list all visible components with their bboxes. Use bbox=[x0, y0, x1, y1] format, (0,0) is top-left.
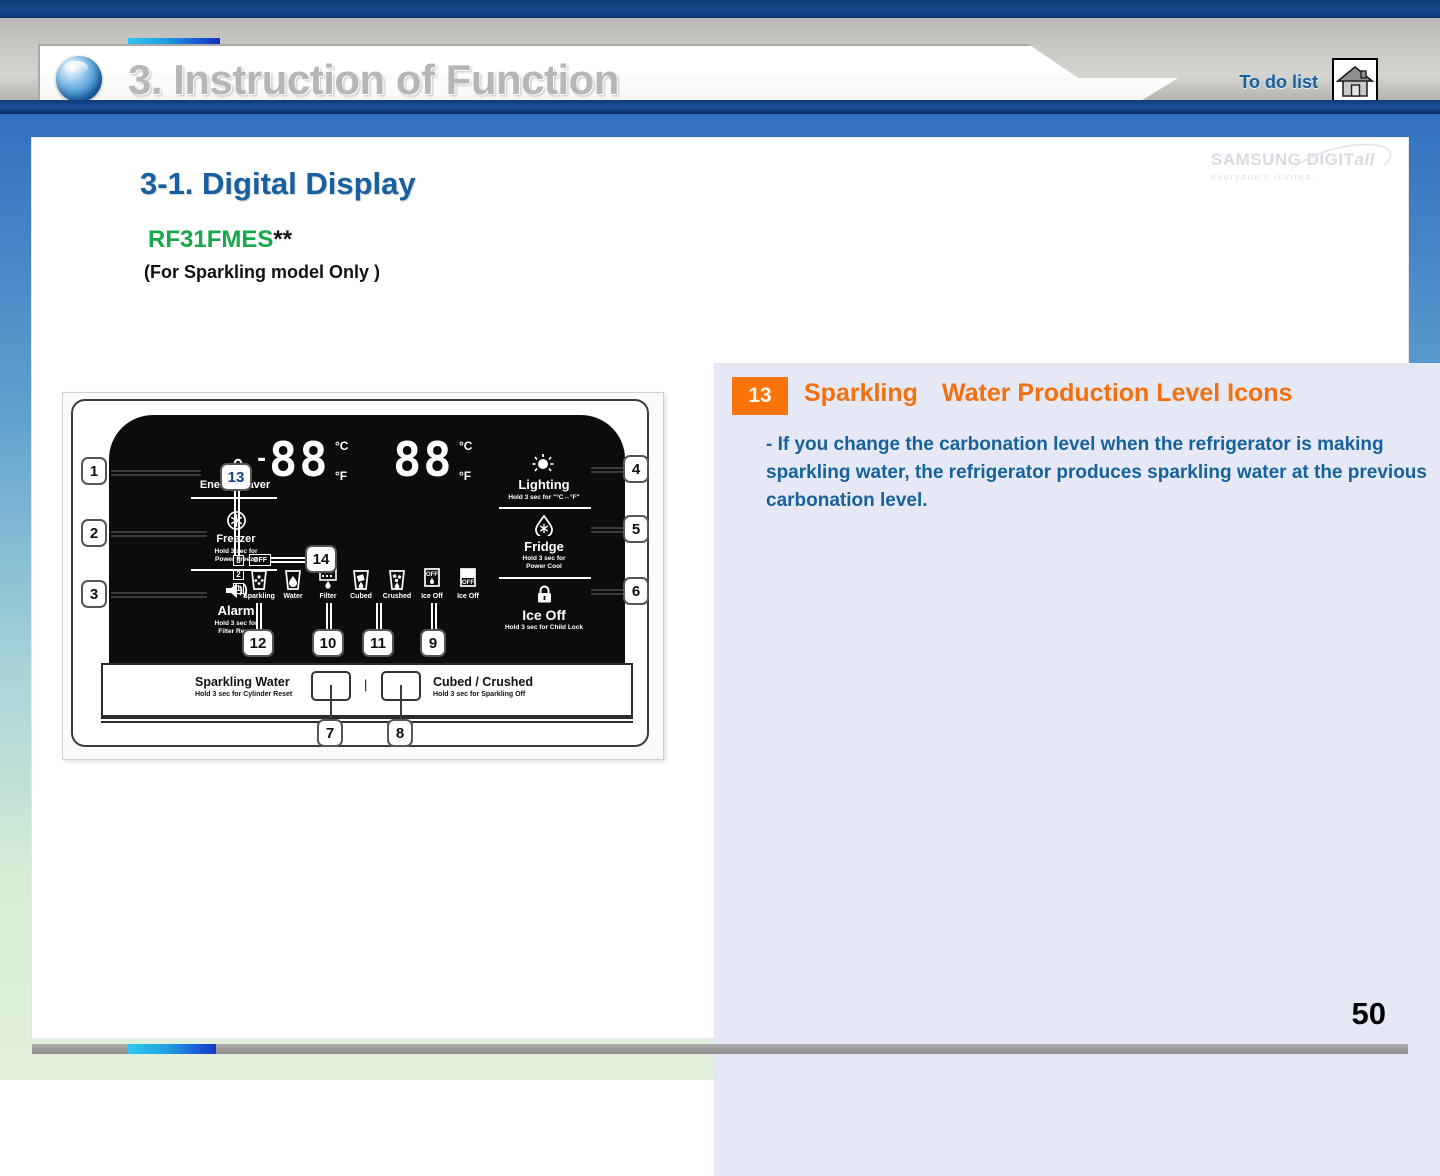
minus-sign: - bbox=[255, 447, 270, 472]
callout-6: 6 bbox=[623, 577, 649, 605]
callout-title-part1: Sparkling bbox=[804, 379, 918, 407]
strip-right-sublabel: Hold 3 sec for Sparkling Off bbox=[433, 691, 525, 698]
home-icon[interactable] bbox=[1332, 58, 1378, 104]
callout-11: 11 bbox=[362, 629, 394, 657]
fridge-droplet-icon bbox=[535, 515, 553, 541]
water-glass-icon bbox=[283, 569, 303, 596]
fridge-label: Fridge bbox=[491, 539, 597, 554]
ice-off-label: Ice Off bbox=[491, 607, 597, 623]
callout-4: 4 bbox=[623, 455, 649, 483]
ice-off-sublabel: Hold 3 sec for Child Lock bbox=[483, 624, 605, 632]
header-band: 3. Instruction of Function To do list bbox=[0, 18, 1440, 100]
ice-off-plate-icon: OFF bbox=[459, 567, 477, 594]
strip-right-label: Cubed / Crushed bbox=[433, 675, 533, 689]
unit-celsius-right: °C bbox=[459, 439, 472, 453]
icon-label-ice-off-2: Ice Off bbox=[442, 593, 494, 600]
callout-title-part2: Water Production Level Icons bbox=[942, 379, 1293, 407]
leader-1 bbox=[111, 470, 201, 472]
callout-5: 5 bbox=[623, 515, 649, 543]
leader-2b bbox=[111, 535, 207, 537]
sparkling-off-indicator: OFF bbox=[249, 554, 271, 566]
model-code: RF31FMES bbox=[148, 226, 273, 253]
crushed-ice-glass-icon bbox=[387, 569, 407, 596]
leader-13b bbox=[238, 489, 240, 555]
svg-text:OFF: OFF bbox=[462, 580, 474, 586]
sparkling-glass-icon bbox=[249, 569, 269, 596]
cubed-ice-glass-icon bbox=[351, 569, 371, 596]
fridge-sublabel: Hold 3 sec for Power Cool bbox=[491, 555, 597, 571]
leader-2 bbox=[111, 531, 207, 533]
divider-3 bbox=[499, 507, 591, 509]
globe-logo-icon bbox=[56, 56, 102, 102]
samsung-digitall-logo: SAMSUNG DIGITall everyone's invited. bbox=[1211, 150, 1386, 192]
home-icon-glyph bbox=[1334, 60, 1376, 102]
divider-4 bbox=[499, 577, 591, 579]
page-title: 3-1. Digital Display bbox=[140, 166, 416, 202]
strip-divider: | bbox=[364, 677, 367, 692]
chapter-title: 3. Instruction of Function bbox=[128, 56, 619, 104]
callout-1: 1 bbox=[81, 457, 107, 485]
callout-12: 12 bbox=[242, 629, 274, 657]
leader-3b bbox=[111, 596, 207, 598]
logo-swoosh bbox=[1284, 135, 1396, 198]
callout-panel-title: SparklingWater Production Level Icons bbox=[804, 379, 1292, 408]
fridge-temp-value: 88 bbox=[393, 433, 454, 488]
lighting-label: Lighting bbox=[491, 477, 597, 492]
strip-left-label: Sparkling Water bbox=[195, 675, 290, 689]
footer-rail-accent bbox=[128, 1044, 216, 1054]
callout-5-label: 5 bbox=[632, 521, 640, 538]
model-note: (For Sparkling model Only ) bbox=[144, 262, 380, 283]
level-indicator-2: 2 bbox=[233, 569, 244, 580]
lighting-sublabel: Hold 3 sec for "°C↔°F" bbox=[491, 494, 597, 502]
page-number: 50 bbox=[1352, 996, 1386, 1032]
top-accent-strip bbox=[0, 0, 1440, 18]
callout-number-badge: 13 bbox=[732, 377, 788, 415]
lighting-bulb-icon bbox=[531, 453, 555, 480]
model-name: RF31FMES** bbox=[148, 226, 292, 254]
callout-detail-panel: 13 SparklingWater Production Level Icons… bbox=[714, 363, 1440, 1176]
footer-rail bbox=[32, 1044, 1408, 1054]
strip-left-sublabel: Hold 3 sec for Cylinder Reset bbox=[195, 691, 292, 698]
unit-celsius-left: °C bbox=[335, 439, 348, 453]
ice-off-cube-icon: OFF bbox=[423, 567, 441, 594]
svg-text:OFF: OFF bbox=[426, 572, 438, 578]
model-suffix: ** bbox=[273, 226, 292, 253]
control-strip-base bbox=[101, 717, 633, 723]
callout-9: 9 bbox=[420, 629, 446, 657]
level-indicator-3: 3 bbox=[233, 555, 244, 566]
callout-4-label: 4 bbox=[632, 461, 640, 478]
slide-content-card: SAMSUNG DIGITall everyone's invited. 3-1… bbox=[32, 138, 1408, 1038]
callout-14: 14 bbox=[305, 545, 337, 573]
callout-panel-body: - If you change the carbonation level wh… bbox=[766, 431, 1438, 515]
unit-fahrenheit-right: °F bbox=[459, 469, 471, 483]
freezer-snowflake-icon bbox=[227, 511, 246, 535]
digital-display-diagram: Energy Saver Freezer Hold 3 sec for Powe… bbox=[62, 392, 664, 760]
unit-fahrenheit-left: °F bbox=[335, 469, 347, 483]
callout-7: 7 bbox=[317, 719, 343, 747]
callout-13: 13 bbox=[220, 463, 252, 491]
leader-13 bbox=[234, 489, 236, 555]
leader-3 bbox=[111, 592, 207, 594]
callout-8: 8 bbox=[387, 719, 413, 747]
callout-6-label: 6 bbox=[632, 583, 640, 600]
callout-3: 3 bbox=[81, 580, 107, 608]
freezer-temp-value: 88 bbox=[269, 433, 330, 488]
alarm-label: Alarm bbox=[191, 603, 281, 618]
page-root: 3. Instruction of Function To do list SA… bbox=[0, 0, 1440, 1080]
leader-1b bbox=[111, 474, 201, 476]
to-do-list-link[interactable]: To do list bbox=[1239, 72, 1318, 93]
header-bottom-strip bbox=[0, 100, 1440, 114]
child-lock-padlock-icon bbox=[536, 585, 553, 609]
callout-2: 2 bbox=[81, 519, 107, 547]
callout-10: 10 bbox=[312, 629, 344, 657]
